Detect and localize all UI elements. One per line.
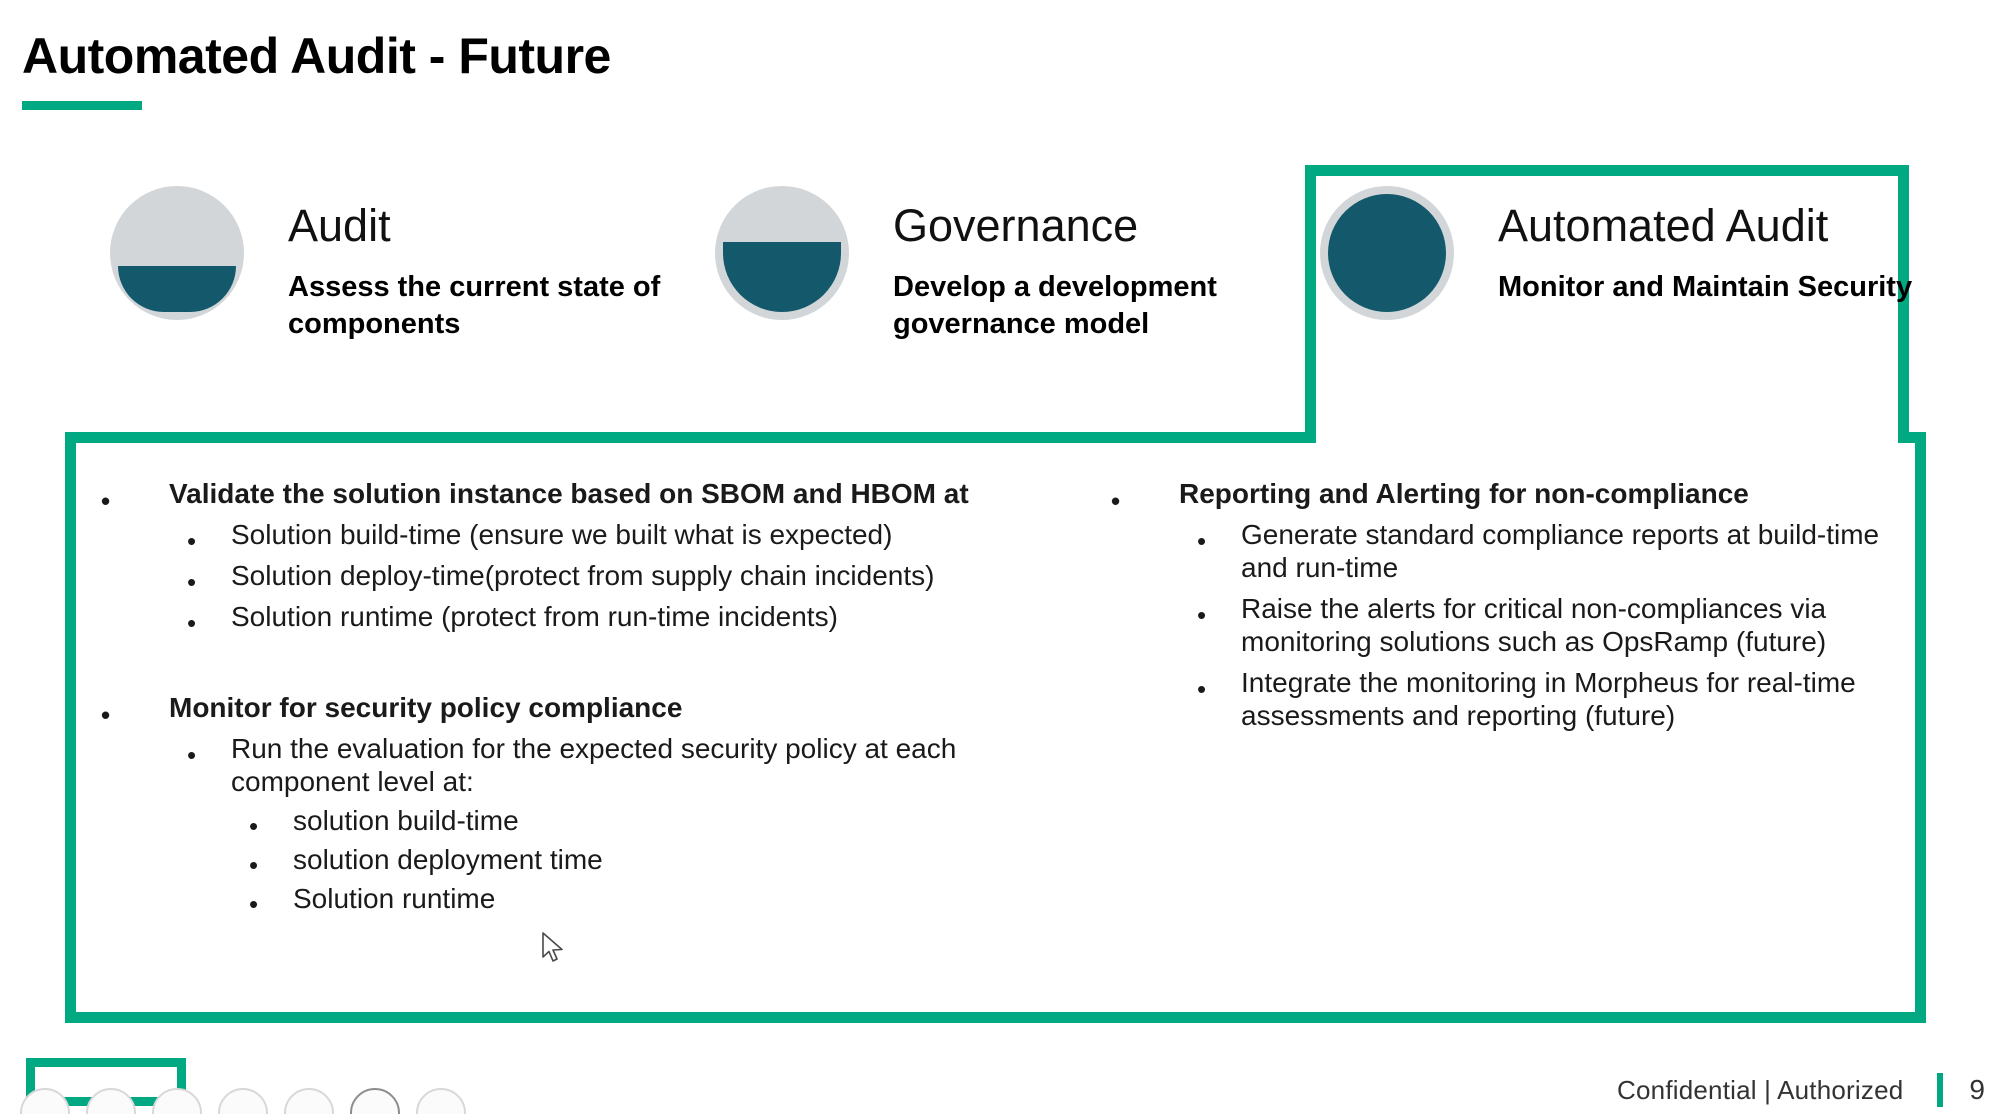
bullet-text: Monitor for security policy compliance: [169, 692, 682, 723]
bullet-sublist: • Solution build-time (ensure we built w…: [169, 518, 1075, 633]
taskbar-icon-2[interactable]: [86, 1088, 136, 1114]
bullet-item: • Raise the alerts for critical non-comp…: [1179, 592, 1926, 658]
pillar-audit[interactable]: Audit Assess the current state of compon…: [110, 180, 728, 342]
bullet-text: solution build-time: [293, 805, 519, 836]
pillar-audit-text: Audit Assess the current state of compon…: [288, 180, 728, 342]
bullet-sublist: • Generate standard compliance reports a…: [1179, 518, 1926, 732]
bullet-item: • Solution deploy-time(protect from supp…: [169, 559, 1075, 592]
bullet-dot-icon: •: [187, 610, 196, 636]
footer: Confidential | Authorized 9: [1617, 1073, 1985, 1107]
bullet-list-right: • Reporting and Alerting for non-complia…: [1095, 477, 1926, 732]
bullet-dot-icon: •: [187, 742, 196, 768]
full-filled-circle-icon: [1320, 186, 1454, 320]
bullet-text: Reporting and Alerting for non-complianc…: [1179, 478, 1749, 509]
bullet-dot-icon: •: [1197, 528, 1206, 554]
box-merge-patch: [1316, 424, 1898, 446]
bullet-text: solution deployment time: [293, 844, 603, 875]
bullet-text: Solution build-time (ensure we built wha…: [231, 519, 892, 550]
bullet-item: • solution deployment time: [231, 843, 1011, 876]
taskbar-icon-5[interactable]: [284, 1088, 334, 1114]
pillar-automated-audit-text: Automated Audit Monitor and Maintain Sec…: [1498, 180, 1912, 306]
bullet-text: Integrate the monitoring in Morpheus for…: [1241, 667, 1856, 731]
title-block: Automated Audit - Future: [22, 30, 611, 110]
bullet-text: Run the evaluation for the expected secu…: [231, 733, 956, 797]
bullet-dot-icon: •: [101, 702, 110, 728]
bullet-text: Solution runtime: [293, 883, 495, 914]
pillar-governance-text: Governance Develop a development governa…: [893, 180, 1333, 342]
bullet-text: Solution deploy-time(protect from supply…: [231, 560, 934, 591]
bullet-sublist: • solution build-time • solution deploym…: [231, 804, 1011, 915]
bullet-item: • Solution runtime: [231, 882, 1011, 915]
bullet-item: • Run the evaluation for the expected se…: [169, 732, 1011, 915]
bullet-dot-icon: •: [1197, 676, 1206, 702]
bullet-dot-icon: •: [187, 569, 196, 595]
slide-canvas: Automated Audit - Future Audit Assess th…: [0, 0, 2013, 1114]
bullet-item: • Validate the solution instance based o…: [85, 477, 1075, 633]
taskbar-icon-7[interactable]: [416, 1088, 466, 1114]
bullet-dot-icon: •: [249, 852, 258, 878]
pillar-automated-audit-description: Monitor and Maintain Security: [1498, 269, 1912, 305]
bullet-dot-icon: •: [249, 891, 258, 917]
taskbar-icon-6[interactable]: [350, 1088, 400, 1114]
pillar-audit-description: Assess the current state of components: [288, 269, 728, 342]
bullet-item: • Generate standard compliance reports a…: [1179, 518, 1926, 584]
bullet-dot-icon: •: [101, 488, 110, 514]
bullet-dot-icon: •: [1111, 488, 1120, 514]
bullet-dot-icon: •: [249, 813, 258, 839]
bullet-text: Raise the alerts for critical non-compli…: [1241, 593, 1826, 657]
two-thirds-filled-circle-icon: [715, 186, 849, 320]
pillar-automated-audit[interactable]: Automated Audit Monitor and Maintain Sec…: [1320, 180, 1912, 320]
bullet-dot-icon: •: [1197, 602, 1206, 628]
pillar-governance-name: Governance: [893, 202, 1333, 249]
bullet-item: • Integrate the monitoring in Morpheus f…: [1179, 666, 1926, 732]
bullet-text: Validate the solution instance based on …: [169, 478, 969, 509]
detail-column-left: • Validate the solution instance based o…: [65, 455, 1075, 915]
pillar-governance-description: Develop a development governance model: [893, 269, 1333, 342]
footer-divider: [1937, 1073, 1943, 1107]
pillar-audit-name: Audit: [288, 202, 728, 249]
taskbar[interactable]: [20, 1088, 466, 1114]
taskbar-icon-4[interactable]: [218, 1088, 268, 1114]
bullet-list-left: • Validate the solution instance based o…: [85, 477, 1075, 915]
bullet-item: • Solution build-time (ensure we built w…: [169, 518, 1075, 551]
confidentiality-label: Confidential | Authorized: [1617, 1075, 1903, 1106]
bullet-text: Solution runtime (protect from run-time …: [231, 601, 838, 632]
detail-columns: • Validate the solution instance based o…: [65, 455, 1926, 915]
half-filled-circle-icon: [110, 186, 244, 320]
page-title: Automated Audit - Future: [22, 30, 611, 83]
pillar-governance[interactable]: Governance Develop a development governa…: [715, 180, 1333, 342]
bullet-item: • Solution runtime (protect from run-tim…: [169, 600, 1075, 633]
taskbar-icon-1[interactable]: [20, 1088, 70, 1114]
page-number: 9: [1969, 1074, 1985, 1106]
title-underline-rule: [22, 101, 142, 110]
bullet-dot-icon: •: [187, 528, 196, 554]
bullet-item: • Monitor for security policy compliance…: [85, 691, 1075, 915]
pillar-automated-audit-name: Automated Audit: [1498, 202, 1912, 249]
taskbar-icon-3[interactable]: [152, 1088, 202, 1114]
bullet-item: • solution build-time: [231, 804, 1011, 837]
bullet-sublist: • Run the evaluation for the expected se…: [169, 732, 1075, 915]
bullet-text: Generate standard compliance reports at …: [1241, 519, 1879, 583]
detail-column-right: • Reporting and Alerting for non-complia…: [1075, 455, 1926, 915]
bullet-item: • Reporting and Alerting for non-complia…: [1095, 477, 1926, 732]
